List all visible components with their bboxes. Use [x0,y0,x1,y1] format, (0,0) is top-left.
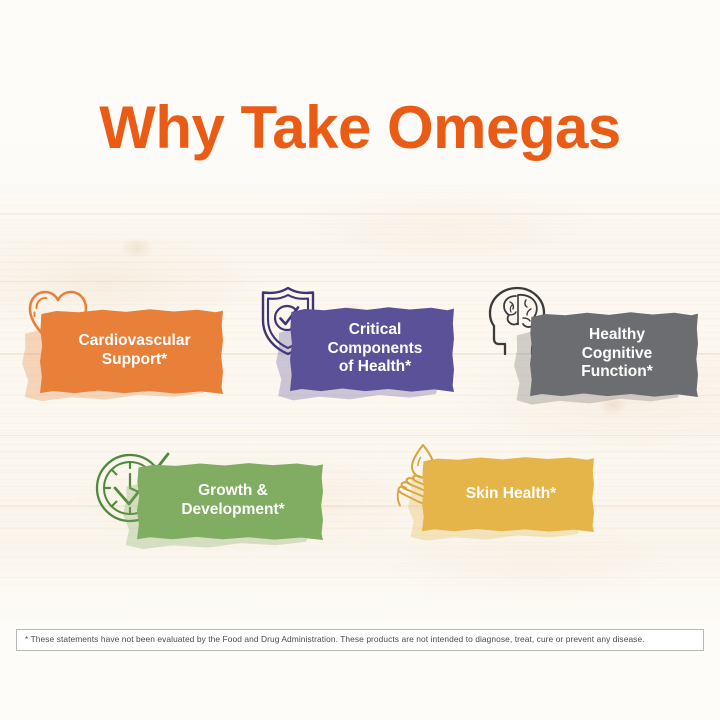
card-growth-development[interactable]: Growth & Development* [137,462,323,540]
card-critical-components-of-health[interactable]: Critical Components of Health* [290,306,454,392]
card-cardiovascular-support[interactable]: Cardiovascular Support* [40,308,223,394]
card-banner: Healthy Cognitive Function* [530,311,698,397]
card-banner: Cardiovascular Support* [40,308,223,394]
background-fade-bottom [0,545,720,625]
card-banner: Skin Health* [422,456,594,532]
card-label-line-2: Components [328,340,423,359]
card-label-line-1: Growth & [181,482,284,501]
card-label-line-2: Cognitive [581,345,652,364]
card-banner: Critical Components of Health* [290,306,454,392]
wood-knot [120,237,154,259]
card-label-line-2: Development* [181,501,284,520]
card-skin-health[interactable]: Skin Health* [422,456,594,532]
card-healthy-cognitive-function[interactable]: Healthy Cognitive Function* [530,311,698,397]
card-label-line-1: Skin Health* [466,485,556,504]
card-label-line-3: Function* [581,363,652,382]
card-label-line-3: of Health* [328,358,423,377]
page-title: Why Take Omegas [0,98,720,158]
card-banner: Growth & Development* [137,462,323,540]
card-label-line-2: Support* [79,351,191,370]
infographic-poster: Why Take Omegas Cardiovascular Support* [0,0,720,720]
disclaimer-text: * These statements have not been evaluat… [25,635,645,644]
card-label-line-1: Critical [328,321,423,340]
card-label-line-1: Cardiovascular [79,332,191,351]
background-fade-top [0,150,720,240]
disclaimer-box: * These statements have not been evaluat… [16,629,704,651]
card-label-line-1: Healthy [581,326,652,345]
